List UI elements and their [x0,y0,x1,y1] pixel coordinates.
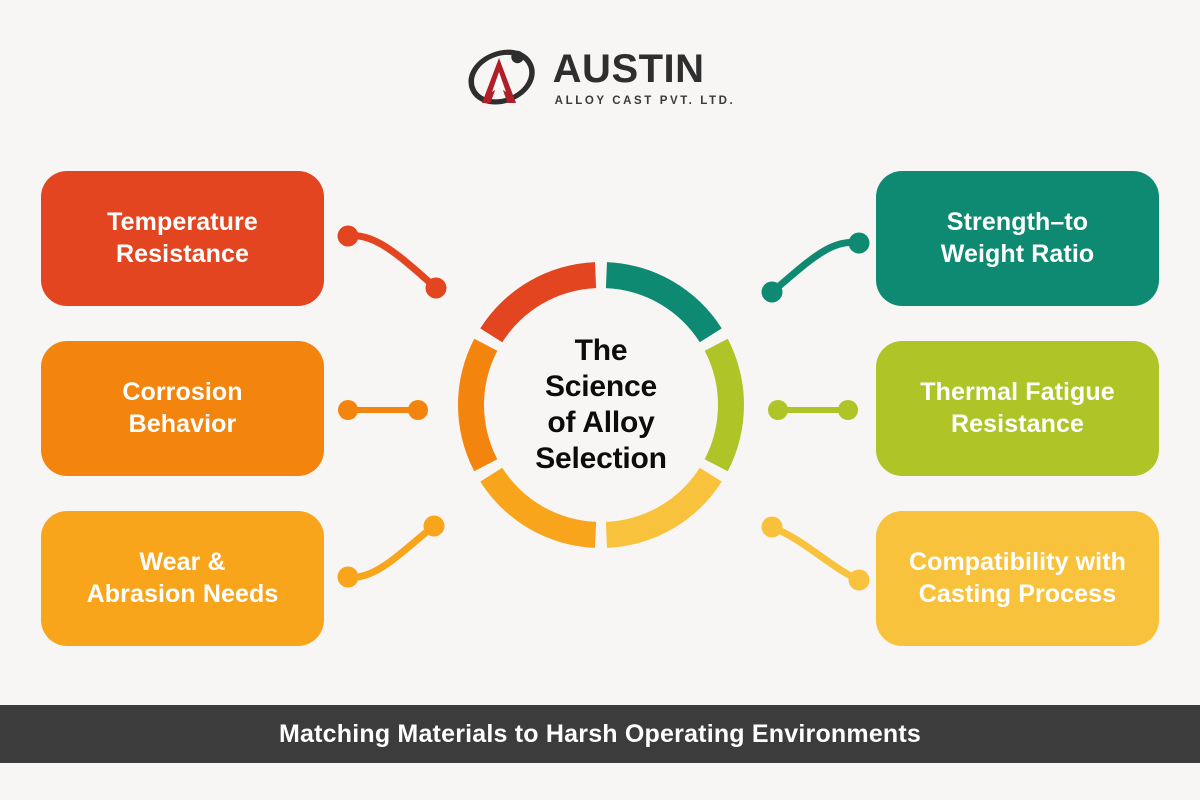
connector-corrosion-behavior [330,385,440,435]
card-label: Corrosion Behavior [122,377,242,440]
donut-center-title: The Science of Alloy Selection [494,333,708,477]
card-label: Temperature Resistance [107,207,258,270]
logo-brand-name: AUSTIN [553,49,736,89]
connector-temperature-resistance [330,210,460,310]
footer-banner: Matching Materials to Harsh Operating En… [0,705,1200,763]
card-temperature-resistance[interactable]: Temperature Resistance [41,171,324,306]
connector-thermal-fatigue-resistance [760,385,870,435]
card-label: Compatibility with Casting Process [909,547,1126,610]
donut-segment-wear-and-abrasion-needs[interactable] [480,468,596,548]
connector-wear-abrasion-needs [330,505,460,605]
donut-chart: The Science of Alloy Selection [456,260,746,550]
logo-tagline: ALLOY CAST PVT. LTD. [555,96,736,108]
card-wear-abrasion-needs[interactable]: Wear & Abrasion Needs [41,511,324,646]
brand-logo: AUSTIN ALLOY CAST PVT. LTD. [0,38,1200,118]
logo-inner: AUSTIN ALLOY CAST PVT. LTD. [465,46,736,110]
card-corrosion-behavior[interactable]: Corrosion Behavior [41,341,324,476]
logo-wordmark: AUSTIN ALLOY CAST PVT. LTD. [553,49,736,108]
card-strength-to-weight-ratio[interactable]: Strength–to Weight Ratio [876,171,1159,306]
donut-segment-corrosion-behavior[interactable] [458,339,497,472]
donut-segment-strength-to-weight-ratio[interactable] [606,262,722,342]
infographic-canvas: AUSTIN ALLOY CAST PVT. LTD. Temperature … [0,0,1200,800]
connector-compatibility-casting [758,505,888,605]
card-compatibility-with-casting-process[interactable]: Compatibility with Casting Process [876,511,1159,646]
card-label: Wear & Abrasion Needs [87,547,279,610]
footer-text: Matching Materials to Harsh Operating En… [279,720,921,749]
donut-segment-compatibility-with-casting-process[interactable] [606,468,722,548]
donut-segment-temperature-resistance[interactable] [480,262,596,342]
connector-strength-to-weight-ratio [758,210,888,310]
austin-swoosh-a-emblem-icon [465,46,539,110]
donut-segment-thermal-fatigue-resistance[interactable] [705,339,744,472]
card-label: Strength–to Weight Ratio [941,207,1095,270]
card-thermal-fatigue-resistance[interactable]: Thermal Fatigue Resistance [876,341,1159,476]
card-label: Thermal Fatigue Resistance [920,377,1115,440]
